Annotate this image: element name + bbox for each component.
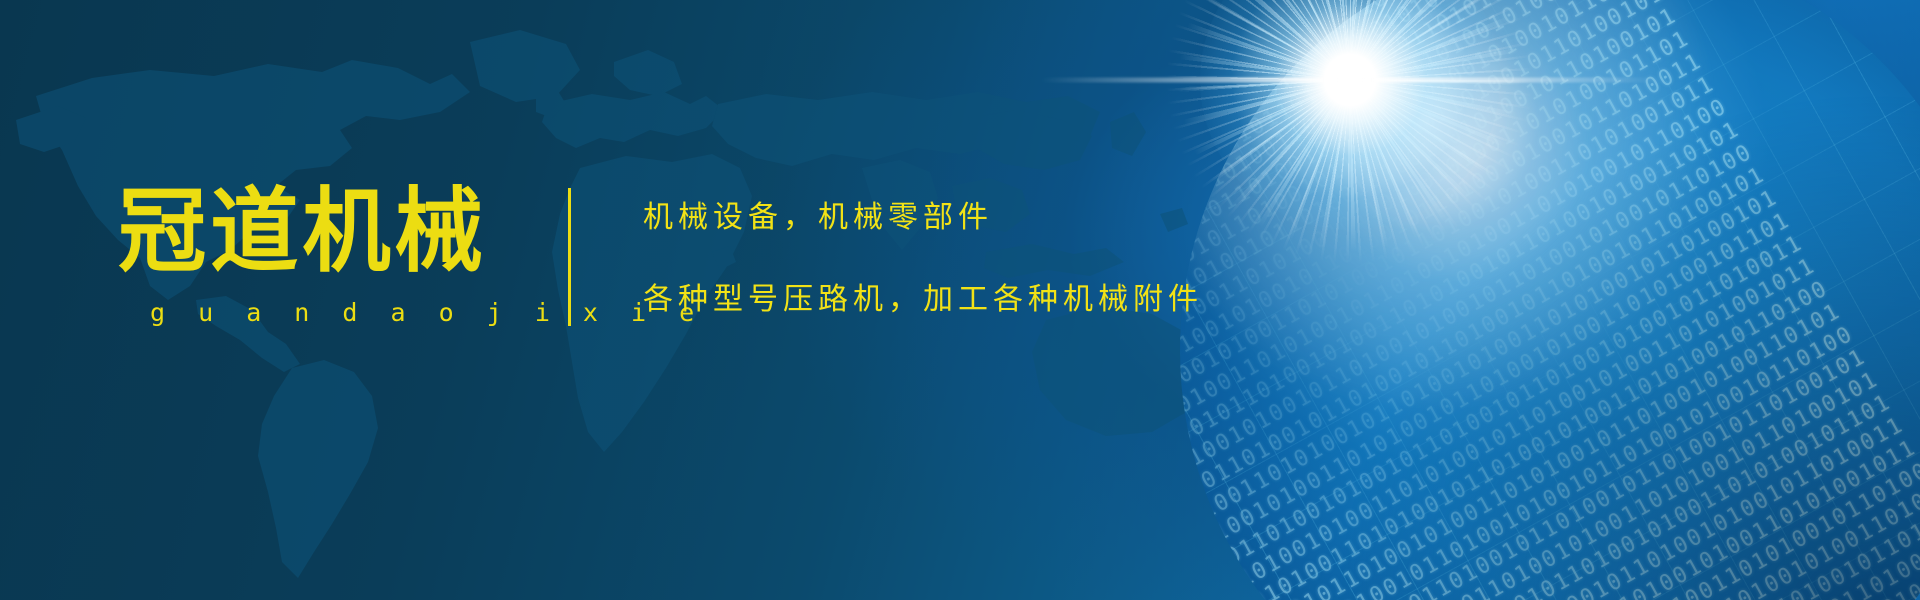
binary-digital-globe: 1001011010010100101101001010010110100101… [1120,0,1920,600]
starburst-rays-fine [1140,0,1560,290]
vertical-divider [568,188,571,326]
tagline-primary: 机械设备，机械零部件 [643,192,1203,236]
tagline-list: 机械设备，机械零部件 各种型号压路机，加工各种机械附件 [643,192,1203,322]
starburst-core [1200,0,1500,230]
globe-sphere: 1001011010010100101101001010010110100101… [1180,0,1920,600]
globe-shading [1180,0,1920,600]
starburst-horizontal-flare [1040,78,1660,83]
brand-name-pinyin: g u a n d a o j i x i e [118,298,538,327]
brand-name-cn: 冠道机械 [118,186,521,278]
light-starburst [1140,0,1560,290]
hero-banner: 1001011010010100101101001010010110100101… [0,0,1920,600]
starburst-rays-broad [1140,0,1560,290]
globe-binary-digits: 1001011010010100101101001010010110100101… [1180,0,1920,600]
tagline-secondary: 各种型号压路机，加工各种机械附件 [643,274,1203,318]
globe-grid-lines [1180,0,1920,600]
brand-logo: 冠道机械 g u a n d a o j i x i e [118,186,538,327]
banner-content: 冠道机械 g u a n d a o j i x i e 机械设备，机械零部件 … [118,186,1203,327]
